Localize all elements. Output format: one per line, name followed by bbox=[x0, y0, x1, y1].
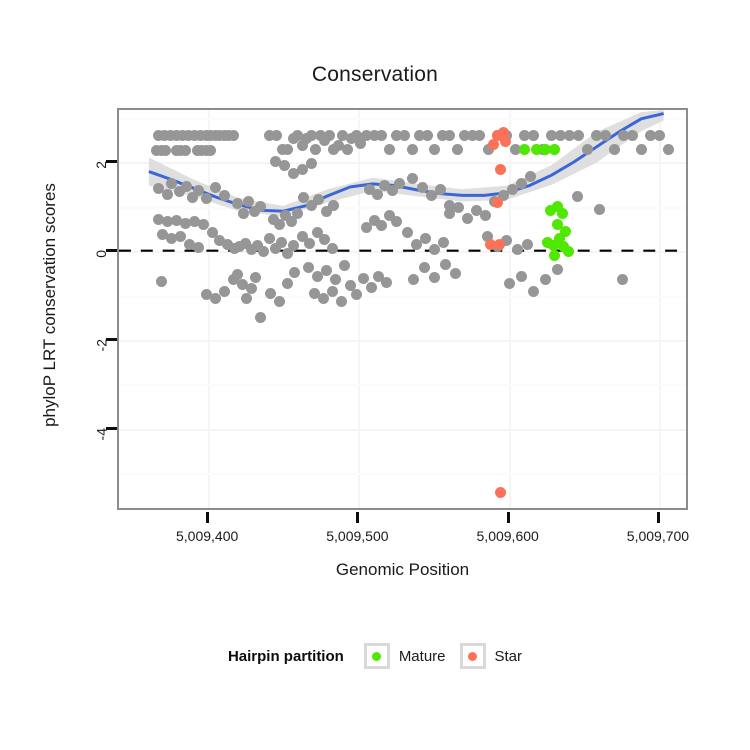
legend: Hairpin partition Mature Star bbox=[0, 643, 750, 669]
legend-dot-star bbox=[468, 652, 477, 661]
data-point-other bbox=[276, 237, 287, 248]
data-point-other bbox=[228, 130, 239, 141]
data-point-other bbox=[440, 259, 451, 270]
legend-key-mature bbox=[364, 643, 390, 669]
data-point-mature bbox=[542, 237, 553, 248]
data-point-other bbox=[407, 173, 418, 184]
data-point-other bbox=[250, 272, 261, 283]
data-point-other bbox=[462, 213, 473, 224]
data-point-other bbox=[422, 130, 433, 141]
data-point-other bbox=[402, 227, 413, 238]
x-tick-label: 5,009,700 bbox=[627, 528, 689, 544]
y-tick-label: 2 bbox=[93, 161, 109, 169]
data-point-other bbox=[289, 267, 300, 278]
legend-label-star: Star bbox=[495, 648, 523, 665]
data-point-other bbox=[328, 200, 339, 211]
data-point-other bbox=[438, 237, 449, 248]
data-point-star bbox=[488, 139, 499, 150]
data-point-other bbox=[327, 243, 338, 254]
data-point-mature bbox=[563, 246, 574, 257]
data-point-other bbox=[381, 277, 392, 288]
data-point-other bbox=[201, 193, 212, 204]
x-tick-mark bbox=[356, 512, 359, 523]
data-point-other bbox=[450, 268, 461, 279]
data-point-other bbox=[572, 191, 583, 202]
data-point-other bbox=[181, 181, 192, 192]
legend-item-mature[interactable]: Mature bbox=[364, 643, 446, 669]
data-point-other bbox=[306, 158, 317, 169]
data-point-other bbox=[180, 145, 191, 156]
y-axis-label: phyloP LRT conservation scores bbox=[40, 95, 60, 515]
legend-item-star[interactable]: Star bbox=[460, 643, 523, 669]
data-point-other bbox=[327, 286, 338, 297]
data-point-other bbox=[162, 189, 173, 200]
x-axis-label: Genomic Position bbox=[117, 560, 688, 580]
data-point-other bbox=[210, 293, 221, 304]
data-point-other bbox=[246, 283, 257, 294]
data-point-other bbox=[419, 262, 430, 273]
data-point-other bbox=[617, 274, 628, 285]
x-tick-label: 5,009,400 bbox=[176, 528, 238, 544]
y-tick-label: -2 bbox=[93, 339, 109, 351]
data-point-other bbox=[156, 276, 167, 287]
loess-smooth-layer bbox=[119, 110, 686, 508]
x-tick-label: 5,009,500 bbox=[326, 528, 388, 544]
legend-label-mature: Mature bbox=[399, 648, 446, 665]
y-tick-label: 0 bbox=[93, 250, 109, 258]
data-point-other bbox=[303, 262, 314, 273]
data-point-other bbox=[504, 278, 515, 289]
x-tick-label: 5,009,600 bbox=[477, 528, 539, 544]
x-tick-mark bbox=[507, 512, 510, 523]
data-point-other bbox=[292, 208, 303, 219]
data-point-other bbox=[219, 286, 230, 297]
data-point-other bbox=[258, 246, 269, 257]
conservation-scatter-chart: Conservation 20-2-4 5,009,4005,009,5005,… bbox=[0, 0, 750, 750]
legend-title: Hairpin partition bbox=[228, 648, 344, 665]
data-point-star bbox=[492, 197, 503, 208]
legend-key-star bbox=[460, 643, 486, 669]
data-point-other bbox=[330, 274, 341, 285]
x-tick-mark bbox=[206, 512, 209, 523]
data-point-other bbox=[435, 184, 446, 195]
data-point-other bbox=[219, 190, 230, 201]
plot-panel bbox=[117, 108, 688, 510]
data-point-other bbox=[232, 198, 243, 209]
data-point-star bbox=[494, 239, 505, 250]
data-point-other bbox=[351, 289, 362, 300]
data-point-other bbox=[274, 296, 285, 307]
data-point-other bbox=[528, 286, 539, 297]
page-title: Conservation bbox=[0, 63, 750, 87]
y-tick-label: -4 bbox=[93, 428, 109, 440]
x-axis: 5,009,4005,009,5005,009,6005,009,700 bbox=[117, 512, 688, 552]
legend-dot-mature bbox=[372, 652, 381, 661]
data-point-other bbox=[522, 239, 533, 250]
data-point-other bbox=[339, 260, 350, 271]
x-tick-mark bbox=[657, 512, 660, 523]
data-point-star bbox=[500, 136, 511, 147]
data-point-other bbox=[255, 201, 266, 212]
data-point-other bbox=[407, 144, 418, 155]
data-point-other bbox=[282, 278, 293, 289]
data-point-mature bbox=[560, 226, 571, 237]
y-axis: 20-2-4 bbox=[60, 108, 117, 510]
